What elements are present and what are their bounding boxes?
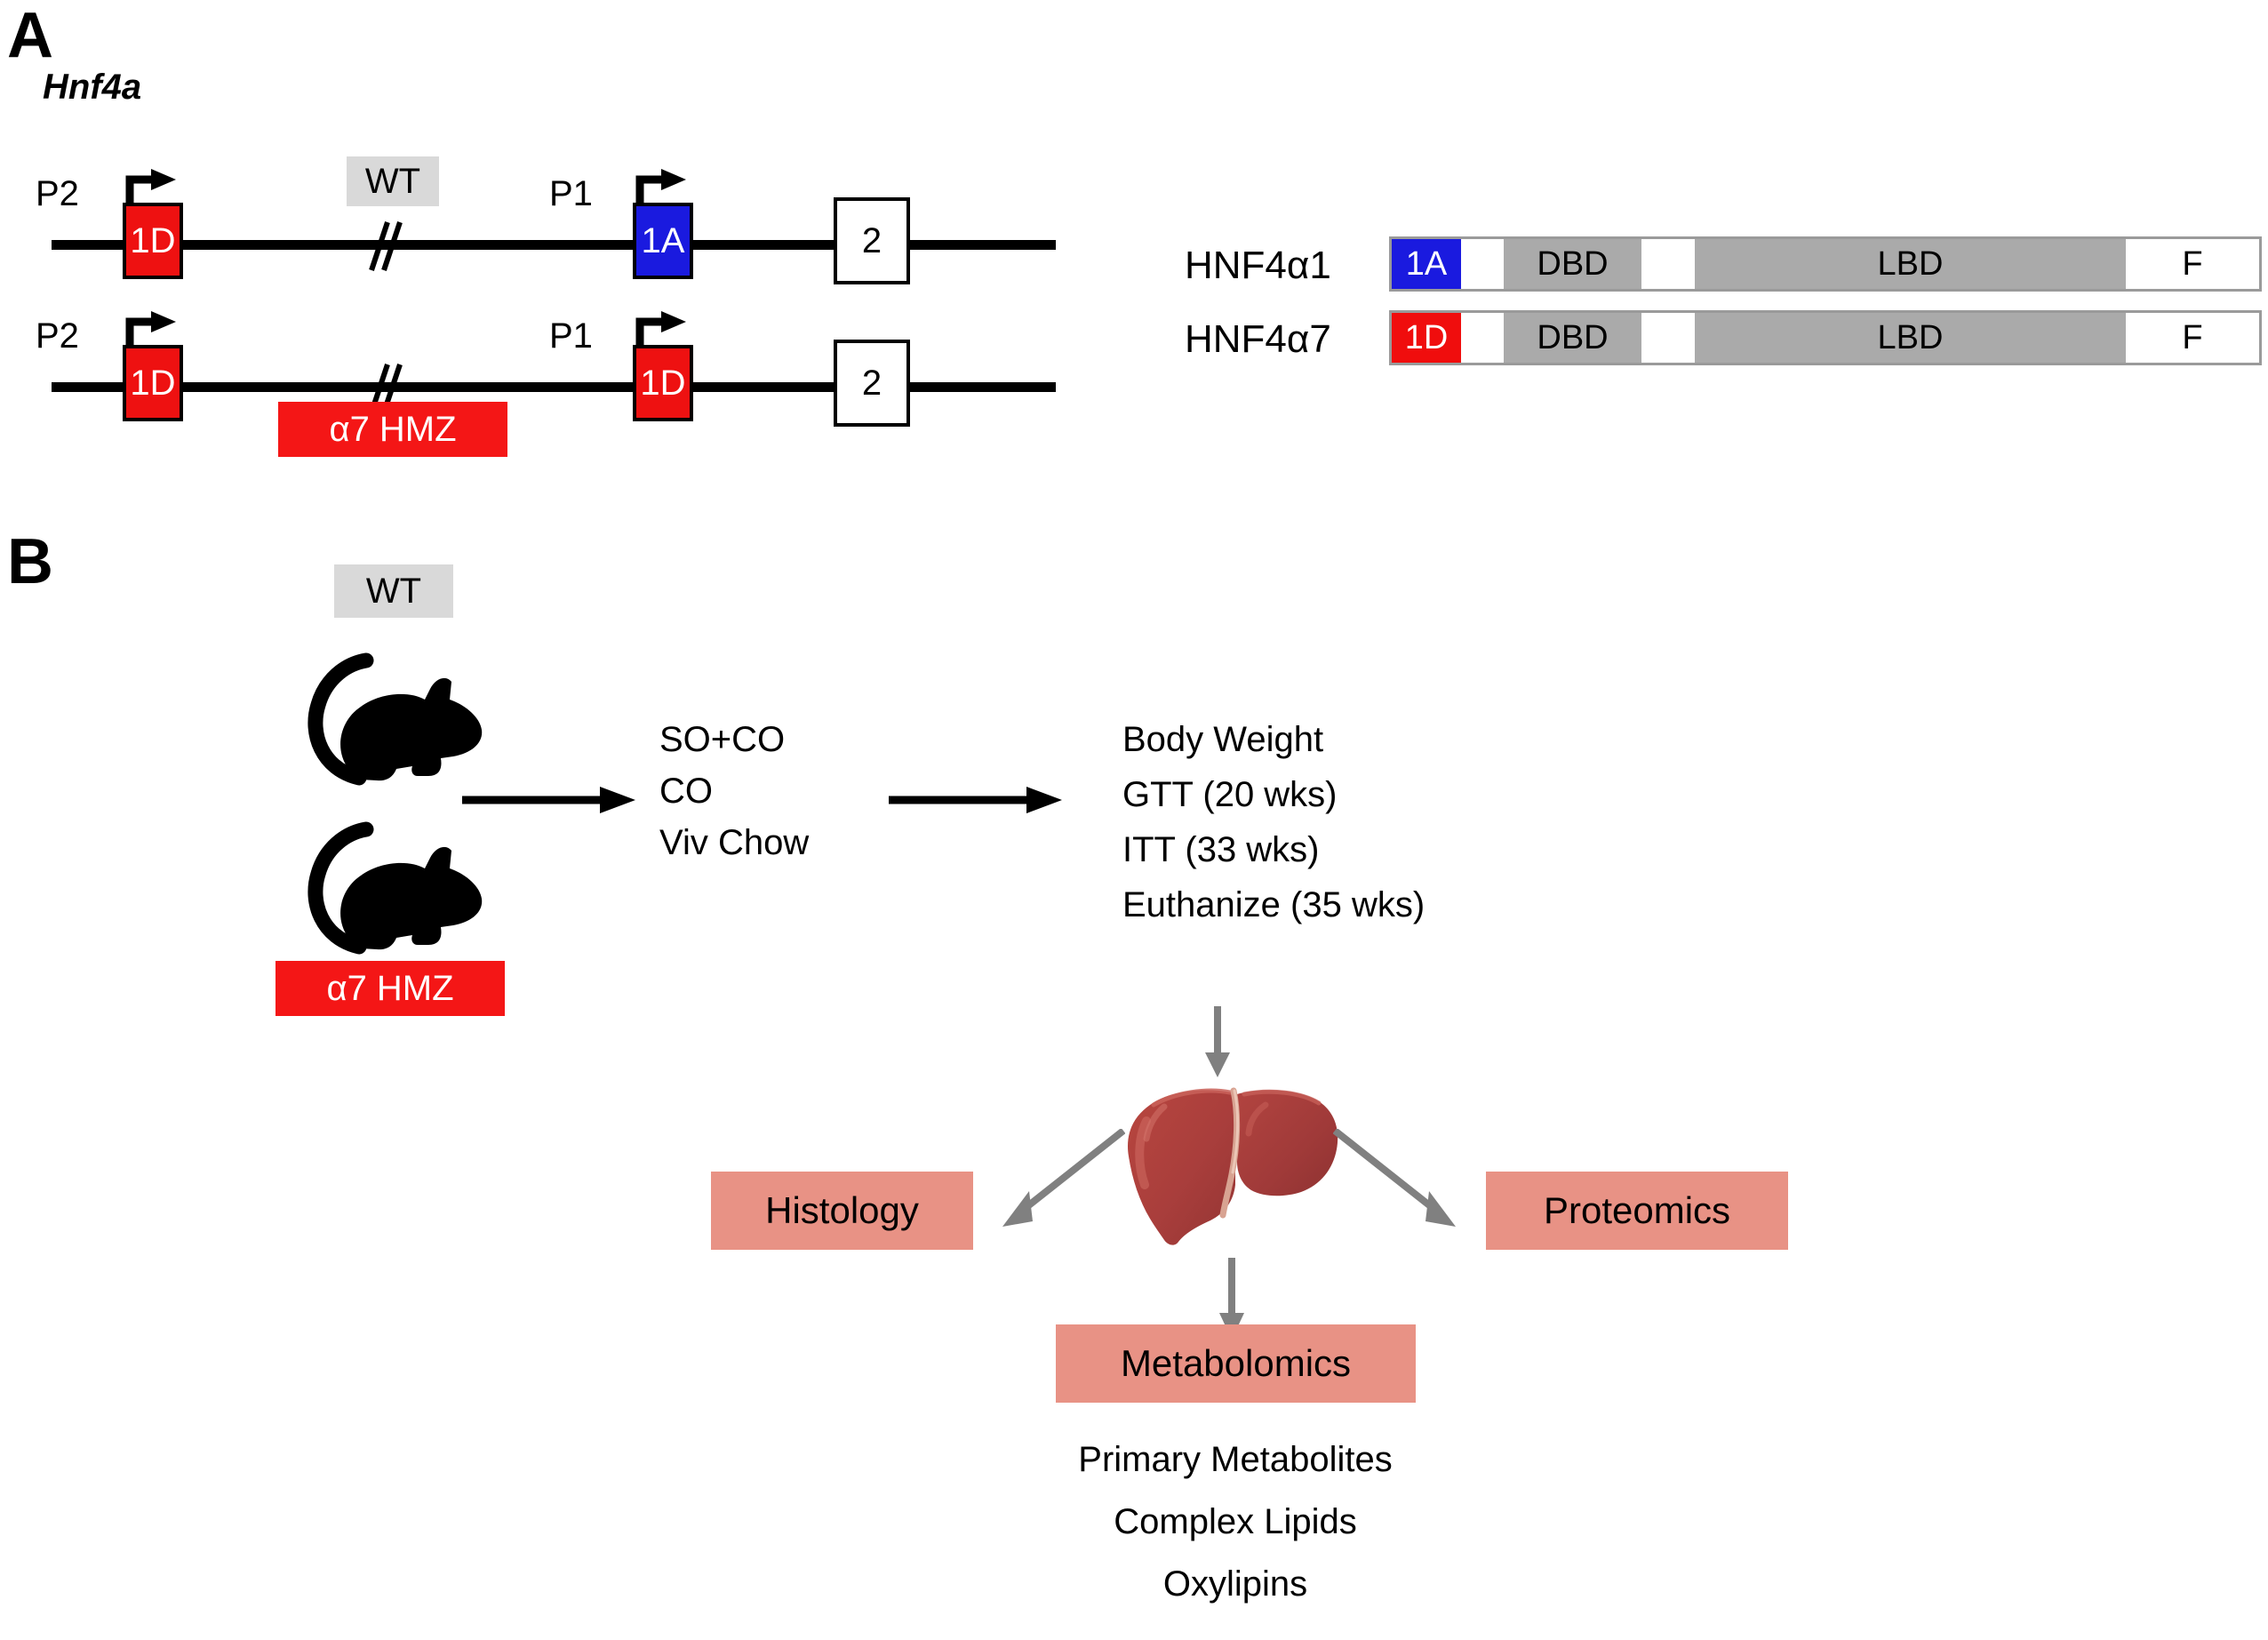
- exon-1d-p2-a7hmz: 1D: [123, 345, 183, 421]
- mouse-icon-a7hmz: [290, 804, 494, 964]
- measurement-list: Body Weight GTT (20 wks) ITT (33 wks) Eu…: [1122, 722, 1425, 923]
- panel-a-letter: A: [7, 4, 53, 68]
- metabolomics-detail-item: Primary Metabolites: [1078, 1442, 1392, 1477]
- promoter-label-p2-a7hmz: P2: [36, 318, 79, 354]
- assay-chip-metabolomics: Metabolomics: [1056, 1324, 1416, 1403]
- diet-item: Viv Chow: [659, 825, 809, 860]
- genotype-chip-wt: WT: [347, 156, 439, 206]
- flow-arrow-to-measurements: [889, 782, 1066, 818]
- protein-bar-hnf4a7: 1D DBD LBD F: [1389, 310, 2262, 365]
- arrow-to-liver: [1200, 1006, 1235, 1079]
- protein-name-hnf4a1: HNF4α1: [1185, 246, 1331, 285]
- measurement-item: GTT (20 wks): [1122, 777, 1425, 812]
- diet-item: CO: [659, 773, 809, 809]
- protein-bar-hnf4a1: 1A DBD LBD F: [1389, 236, 2262, 292]
- protein-segment-lbd: LBD: [1695, 239, 2126, 289]
- assay-chip-proteomics: Proteomics: [1486, 1172, 1788, 1250]
- exon-1a-wt: 1A: [633, 203, 693, 279]
- metabolomics-detail-item: Complex Lipids: [1078, 1504, 1392, 1540]
- panel-b-letter: B: [7, 530, 53, 594]
- protein-segment-spacer-1: [1461, 239, 1504, 289]
- break-mark-wt: [364, 215, 405, 277]
- protein-segment-lbd-2: LBD: [1695, 313, 2126, 363]
- flow-arrow-to-diet: [462, 782, 640, 818]
- protein-segment-spacer-3: [1461, 313, 1504, 363]
- protein-segment-dbd-2: DBD: [1504, 313, 1641, 363]
- liver-icon: [1118, 1080, 1349, 1258]
- promoter-label-p2-wt: P2: [36, 176, 79, 212]
- metabolomics-detail-item: Oxylipins: [1078, 1566, 1392, 1602]
- exon-2-wt: 2: [834, 197, 910, 284]
- diet-item: SO+CO: [659, 722, 809, 757]
- promoter-label-p1-a7hmz: P1: [549, 318, 593, 354]
- protein-segment-spacer-4: [1641, 313, 1695, 363]
- group-chip-a7hmz: α7 HMZ: [276, 961, 505, 1016]
- exon-1d-p2-wt: 1D: [123, 203, 183, 279]
- protein-segment-dbd: DBD: [1504, 239, 1641, 289]
- protein-segment-f-2: F: [2126, 313, 2259, 363]
- measurement-item: Euthanize (35 wks): [1122, 887, 1425, 923]
- mouse-icon-wt: [290, 636, 494, 796]
- genotype-chip-a7hmz: α7 HMZ: [278, 402, 507, 457]
- assay-chip-histology: Histology: [711, 1172, 973, 1250]
- locus-a7hmz: P2 1D α7 HMZ P1 1D 2: [0, 293, 1102, 471]
- promoter-label-p1-wt: P1: [549, 176, 593, 212]
- protein-segment-1d: 1D: [1392, 313, 1461, 363]
- exon-1d-p1-a7hmz: 1D: [633, 345, 693, 421]
- diet-list: SO+CO CO Viv Chow: [659, 722, 809, 860]
- gene-name-label: Hnf4a: [43, 69, 141, 105]
- arrow-to-proteomics: [1333, 1129, 1475, 1236]
- measurement-item: Body Weight: [1122, 722, 1425, 757]
- protein-segment-f: F: [2126, 239, 2259, 289]
- metabolomics-detail-list: Primary Metabolites Complex Lipids Oxyli…: [1078, 1442, 1392, 1602]
- locus-wt: P2 1D WT P1 1A 2: [0, 142, 1102, 284]
- protein-segment-spacer-2: [1641, 239, 1695, 289]
- arrow-to-histology: [983, 1129, 1125, 1236]
- protein-name-hnf4a7: HNF4α7: [1185, 320, 1331, 359]
- exon-2-a7hmz: 2: [834, 340, 910, 427]
- measurement-item: ITT (33 wks): [1122, 832, 1425, 868]
- group-chip-wt: WT: [334, 564, 453, 618]
- protein-segment-1a: 1A: [1392, 239, 1461, 289]
